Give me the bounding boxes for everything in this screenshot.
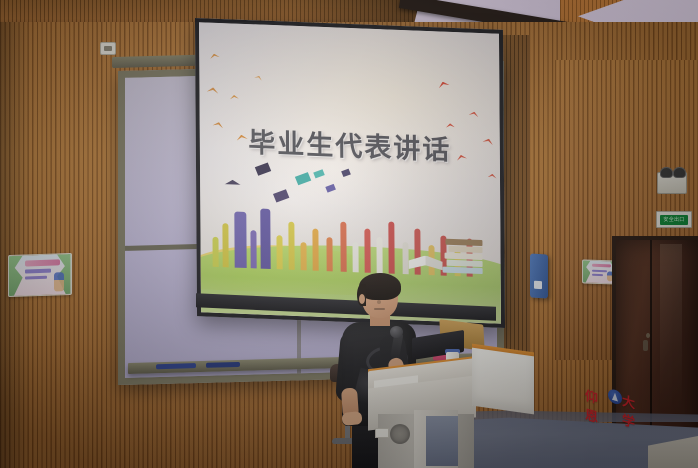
wall-vignette	[0, 22, 698, 468]
auditorium-photo: 毕业生代表讲话	[0, 0, 698, 468]
